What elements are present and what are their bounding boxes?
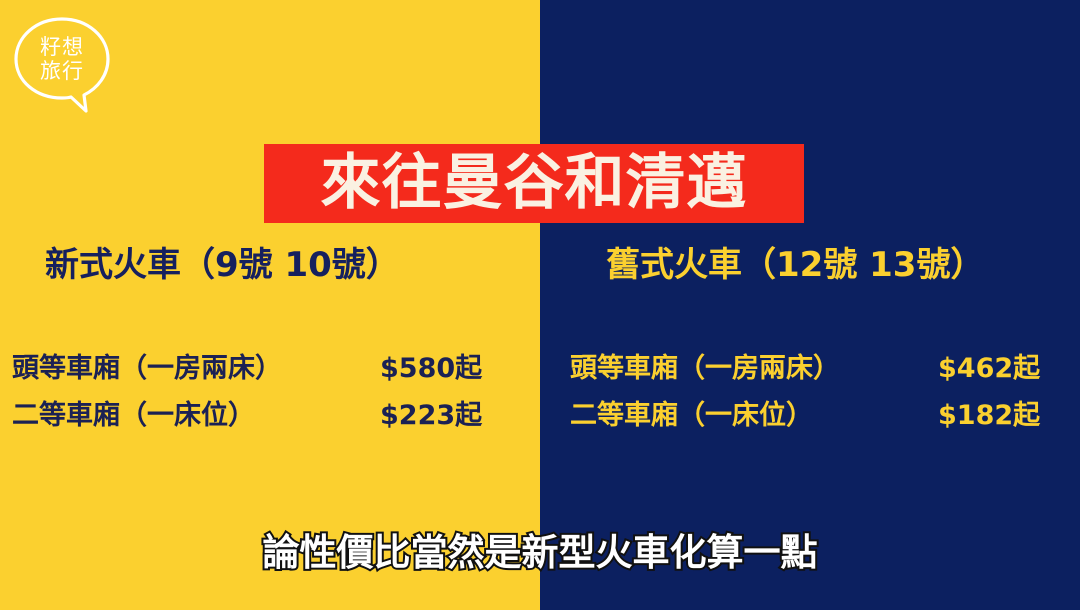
price-row: 頭等車廂（一房兩床） $580起 xyxy=(12,355,482,382)
left-column-heading: 新式火車（9號 10號） xyxy=(45,248,400,282)
title-banner: 來往曼谷和清邁 xyxy=(264,144,804,223)
logo-line-2: 旅行 xyxy=(40,60,84,84)
slide-canvas: 籽想 旅行 來往曼谷和清邁 新式火車（9號 10號） 舊式火車（12號 13號）… xyxy=(0,0,1080,610)
price-row: 二等車廂（一床位） $223起 xyxy=(12,402,482,429)
price-label: 頭等車廂（一房兩床） xyxy=(570,355,938,382)
price-label: 二等車廂（一床位） xyxy=(12,402,380,429)
logo-text: 籽想 旅行 xyxy=(13,16,111,104)
price-amount: $223起 xyxy=(380,402,482,429)
price-amount: $182起 xyxy=(938,402,1040,429)
price-row: 二等車廂（一床位） $182起 xyxy=(570,402,1040,429)
price-row: 頭等車廂（一房兩床） $462起 xyxy=(570,355,1040,382)
subtitle-caption: 論性價比當然是新型火車化算一點 xyxy=(0,534,1080,571)
price-label: 二等車廂（一床位） xyxy=(570,402,938,429)
logo-line-1: 籽想 xyxy=(40,36,84,60)
price-amount: $462起 xyxy=(938,355,1040,382)
right-column-heading: 舊式火車（12號 13號） xyxy=(606,248,984,282)
price-label: 頭等車廂（一房兩床） xyxy=(12,355,380,382)
price-amount: $580起 xyxy=(380,355,482,382)
page-title: 來往曼谷和清邁 xyxy=(321,153,748,213)
right-panel-background xyxy=(540,0,1080,610)
channel-logo: 籽想 旅行 xyxy=(13,16,111,116)
